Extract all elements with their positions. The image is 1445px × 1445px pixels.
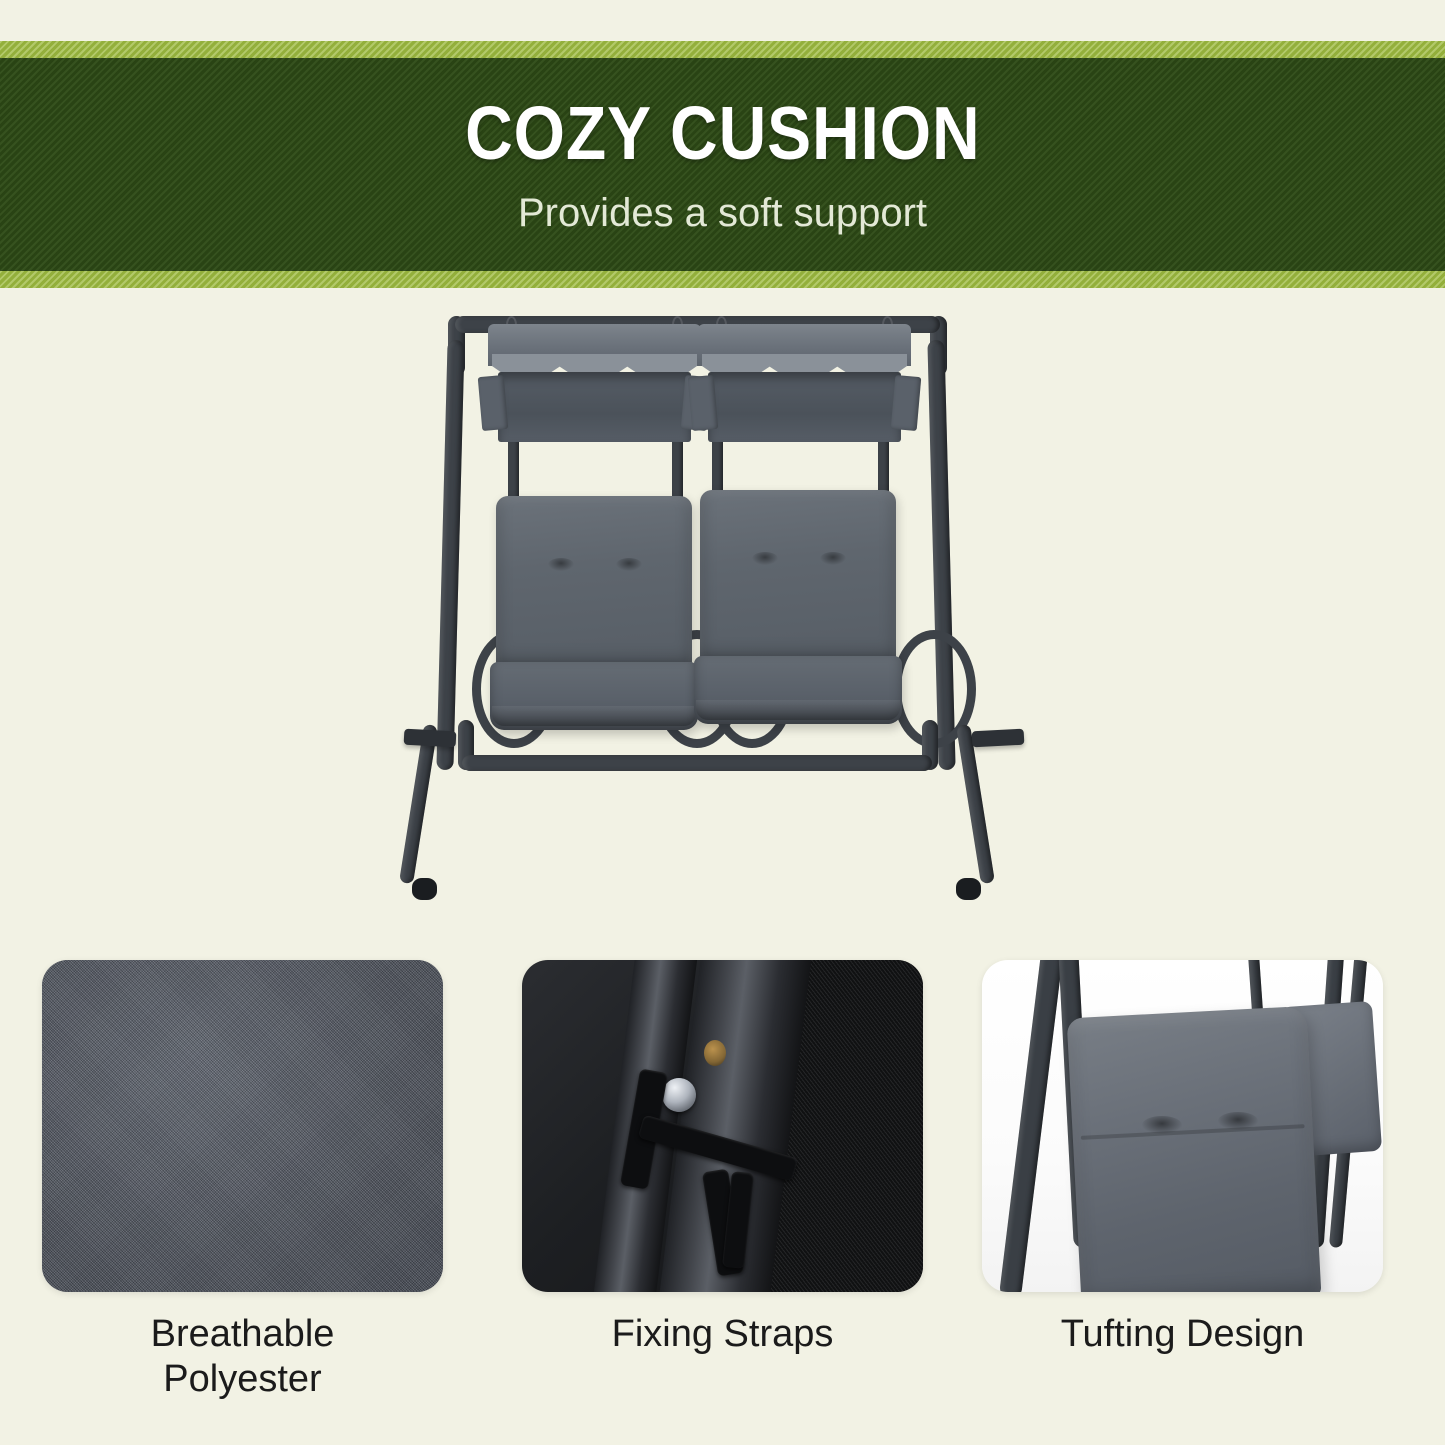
swing-illustration	[400, 300, 1030, 920]
tuft-button	[820, 552, 846, 565]
feature-image-tufting-design	[982, 960, 1383, 1292]
seat-front-lip	[492, 706, 696, 726]
frame-base-bar	[462, 755, 932, 771]
frame-ground-leg-right	[956, 724, 995, 884]
polyester-weave-texture	[42, 960, 443, 1292]
tufted-cushion	[1067, 1006, 1322, 1292]
canopy-underside	[708, 372, 901, 442]
tufted-cushion-photo	[982, 960, 1383, 1292]
seat-base-cushion	[490, 662, 698, 730]
back-cushion	[496, 496, 692, 668]
seat-front-lip	[696, 700, 900, 720]
banner-top-stripe	[0, 41, 1445, 58]
canopy-side-flap	[478, 375, 509, 431]
feature-caption-fixing-straps: Fixing Straps	[522, 1312, 923, 1357]
seat-base-cushion	[694, 656, 902, 724]
page-title: COZY CUSHION	[465, 96, 980, 171]
cup-holder-tray-left	[404, 729, 457, 748]
feature-caption-row: Breathable Polyester Fixing Straps Tufti…	[0, 1312, 1445, 1432]
fixing-strap-photo	[522, 960, 923, 1292]
feature-image-fixing-straps	[522, 960, 923, 1292]
foot-cap-right	[956, 878, 981, 900]
canopy-right	[698, 324, 911, 434]
feature-caption-breathable-polyester: Breathable Polyester	[42, 1312, 443, 1402]
cup-holder-tray-right	[972, 729, 1025, 748]
back-cushion	[700, 490, 896, 662]
tuft-button	[1142, 1116, 1182, 1134]
banner-bottom-stripe	[0, 271, 1445, 288]
canopy-underside	[498, 372, 691, 442]
frame-left-leg	[436, 340, 464, 770]
header-banner: COZY CUSHION Provides a soft support	[0, 41, 1445, 288]
tuft-button	[752, 552, 778, 565]
tuft-button	[1218, 1112, 1258, 1130]
tuft-button	[616, 558, 642, 571]
frame-ground-leg-left	[399, 724, 438, 884]
feature-image-breathable-polyester	[42, 960, 443, 1292]
page-subtitle: Provides a soft support	[518, 193, 927, 233]
feature-caption-tufting-design: Tufting Design	[982, 1312, 1383, 1357]
canopy-side-flap	[688, 375, 719, 431]
foot-cap-left	[412, 878, 437, 900]
canopy-left	[488, 324, 701, 434]
hero-product-image	[0, 288, 1445, 938]
brass-fitting	[704, 1040, 726, 1066]
feature-panel-row	[0, 960, 1445, 1292]
canopy-side-flap	[891, 375, 922, 431]
banner-body: COZY CUSHION Provides a soft support	[0, 58, 1445, 271]
tuft-button	[548, 558, 574, 571]
frame-curved-bar	[999, 960, 1063, 1292]
